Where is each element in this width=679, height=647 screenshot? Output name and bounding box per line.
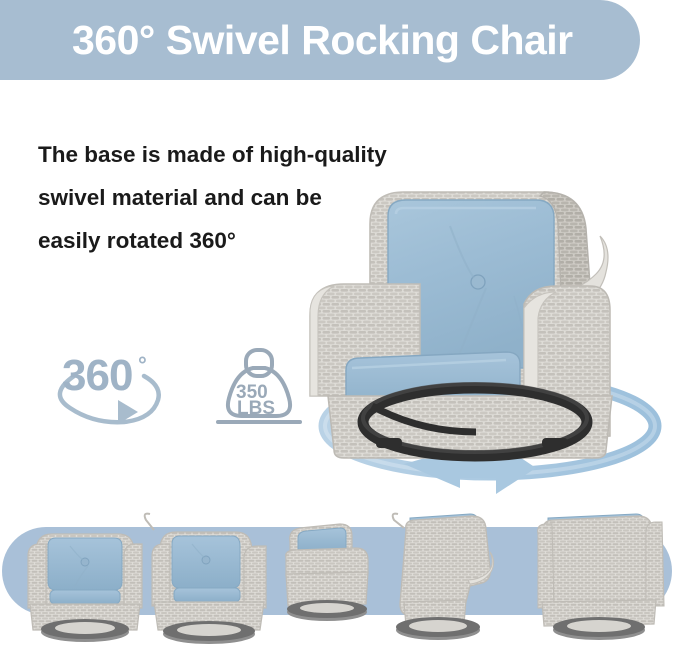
chair-three-quarter-view: [145, 514, 266, 644]
product-feature-image: 360° Swivel Rocking Chair The base is ma…: [0, 0, 679, 647]
rotation-badge: 360 °: [46, 342, 164, 430]
filmstrip-thumbnails: [0, 496, 679, 647]
chair-back-view: [538, 514, 664, 640]
feature-badges: 360 ° 350 LBS: [46, 342, 302, 430]
svg-text:°: °: [138, 352, 147, 377]
chair-front-view: [28, 534, 142, 642]
chair-side-view: [286, 524, 368, 621]
chair-rear-three-quarter-view: [393, 514, 494, 640]
header-banner: 360° Swivel Rocking Chair: [0, 0, 640, 80]
weight-capacity-badge: 350 LBS: [216, 346, 302, 430]
hero-chair-image: [300, 96, 679, 496]
svg-text:360: 360: [62, 351, 132, 400]
view-angles-filmstrip: [0, 496, 679, 647]
page-title: 360° Swivel Rocking Chair: [72, 17, 573, 64]
svg-text:LBS: LBS: [237, 398, 275, 419]
